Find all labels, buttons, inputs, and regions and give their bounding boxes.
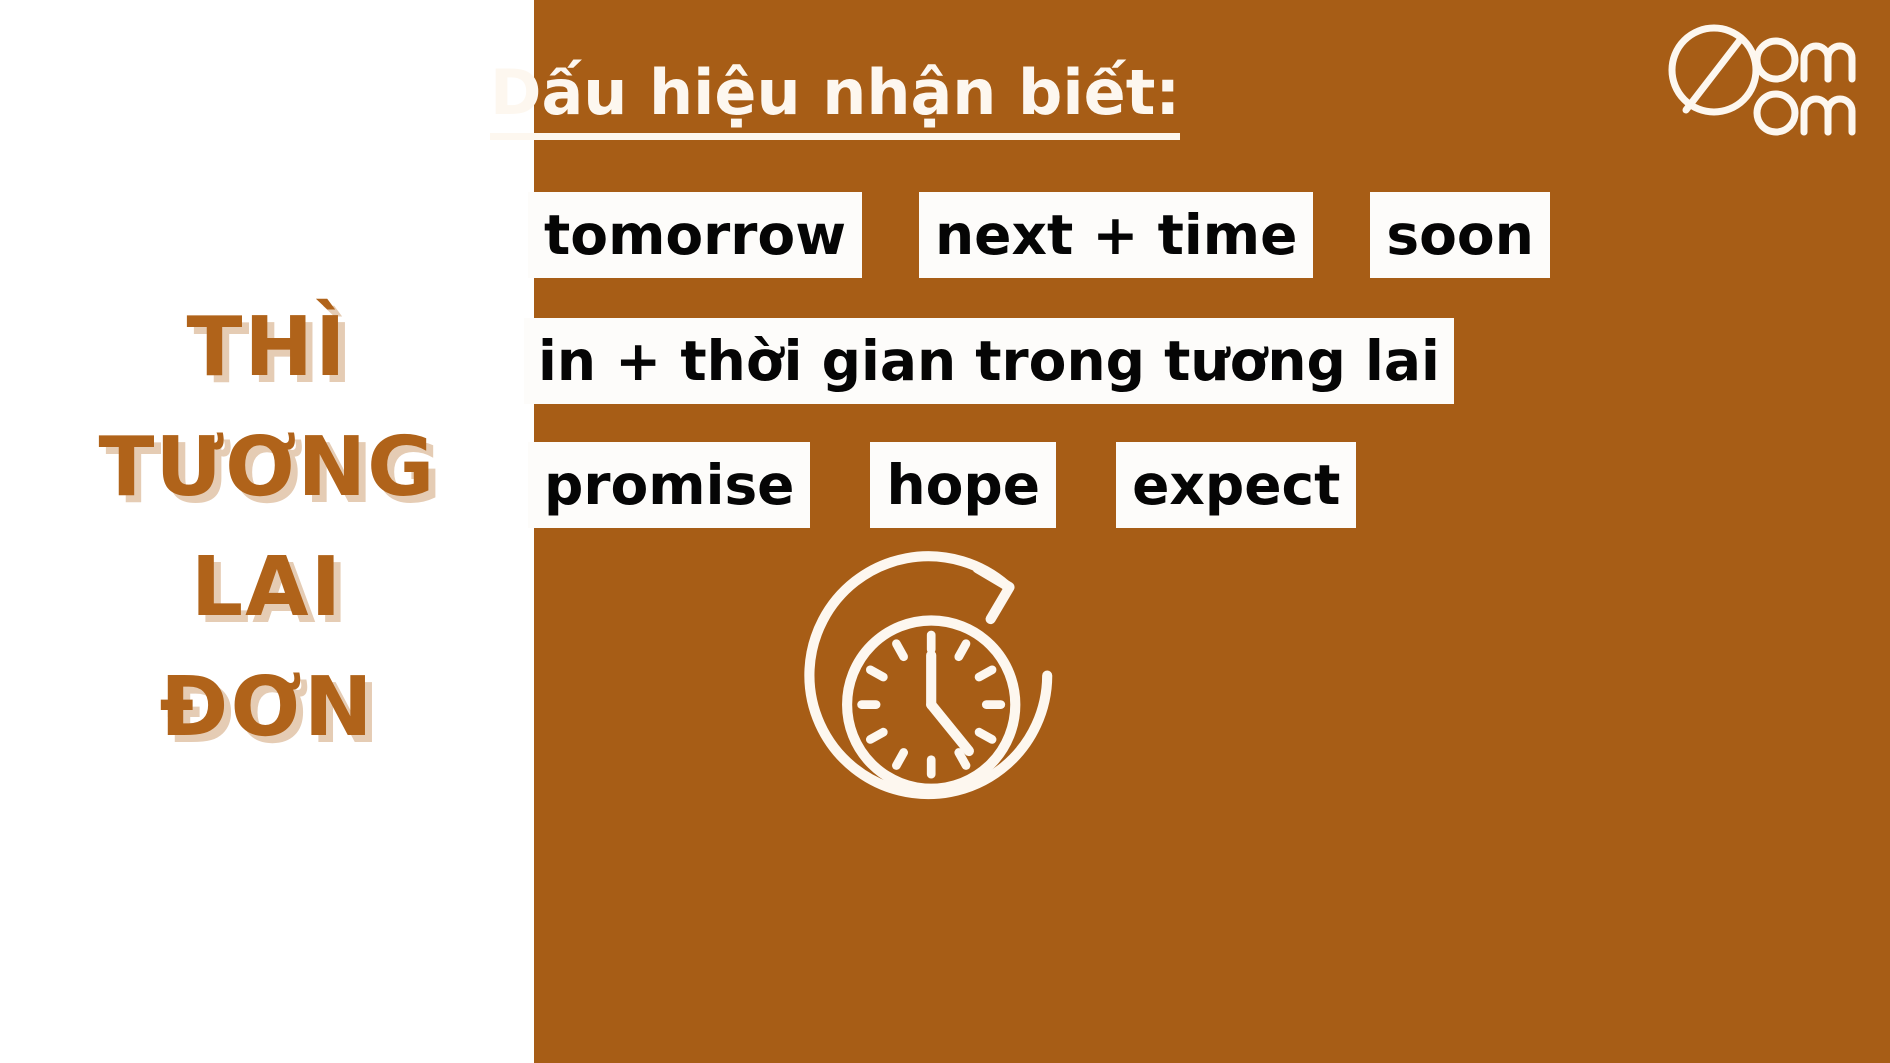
keyword-chip-in-time-phrase[interactable]: in + thời gian trong tương lai [524, 318, 1454, 404]
title-line-1: THÌ [0, 307, 534, 389]
title-panel: THÌ TƯƠNG LAI ĐƠN [0, 0, 534, 1063]
title-stack: THÌ TƯƠNG LAI ĐƠN [0, 307, 534, 757]
keyword-row-1: tomorrow next + time soon [528, 192, 1550, 278]
keyword-chip-soon[interactable]: soon [1370, 192, 1549, 278]
slide-canvas: THÌ TƯƠNG LAI ĐƠN Dấu hiệu nhận biết: to… [0, 0, 1890, 1063]
keyword-row-2: in + thời gian trong tương lai [524, 318, 1454, 404]
content-panel: Dấu hiệu nhận biết: tomorrow next + time… [534, 0, 1890, 1063]
title-line-3: LAI [0, 547, 534, 629]
keyword-chip-next-time[interactable]: next + time [919, 192, 1313, 278]
title-line-2: TƯƠNG [0, 427, 534, 509]
keyword-chip-expect[interactable]: expect [1116, 442, 1356, 528]
keyword-chip-promise[interactable]: promise [528, 442, 810, 528]
section-heading-text: Dấu hiệu nhận biết: [490, 56, 1180, 140]
keyword-row-3: promise hope expect [528, 442, 1356, 528]
clock-rotate-forward-icon [792, 548, 1082, 838]
keyword-chip-hope[interactable]: hope [870, 442, 1056, 528]
omom-logo [1664, 18, 1874, 136]
keyword-chip-tomorrow[interactable]: tomorrow [528, 192, 862, 278]
title-line-4: ĐƠN [0, 667, 534, 749]
